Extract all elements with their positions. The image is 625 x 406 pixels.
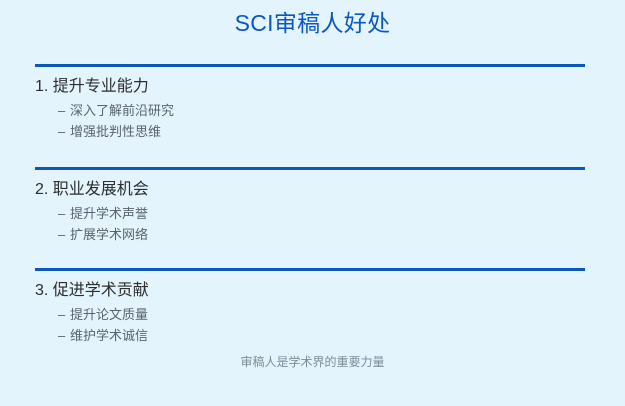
list-item-label: 提升学术声誉 xyxy=(70,206,148,221)
bullet-dash-icon: – xyxy=(58,100,70,121)
sections-container: 1. 提升专业能力 –深入了解前沿研究 –增强批判性思维 2. 职业发展机会 –… xyxy=(35,64,585,346)
section-heading-1: 1. 提升专业能力 xyxy=(35,67,585,100)
page-title: SCI审稿人好处 xyxy=(0,8,625,38)
list-item-label: 深入了解前沿研究 xyxy=(70,103,174,118)
footer-note: 审稿人是学术界的重要力量 xyxy=(0,353,625,371)
section-3: 3. 促进学术贡献 –提升论文质量 –维护学术诚信 xyxy=(35,268,585,346)
section-2-sub-list: –提升学术声誉 –扩展学术网络 xyxy=(35,203,585,245)
list-item: –深入了解前沿研究 xyxy=(35,100,585,121)
list-item: –提升论文质量 xyxy=(35,304,585,325)
section-spacer xyxy=(35,245,585,268)
section-heading-2: 2. 职业发展机会 xyxy=(35,170,585,203)
section-heading-3: 3. 促进学术贡献 xyxy=(35,271,585,304)
list-item-label: 扩展学术网络 xyxy=(70,227,148,242)
list-item-label: 增强批判性思维 xyxy=(70,124,161,139)
list-item: –维护学术诚信 xyxy=(35,325,585,346)
document-page: SCI审稿人好处 1. 提升专业能力 –深入了解前沿研究 –增强批判性思维 2.… xyxy=(0,0,625,406)
section-1-sub-list: –深入了解前沿研究 –增强批判性思维 xyxy=(35,100,585,142)
bullet-dash-icon: – xyxy=(58,121,70,142)
section-1: 1. 提升专业能力 –深入了解前沿研究 –增强批判性思维 xyxy=(35,64,585,142)
bullet-dash-icon: – xyxy=(58,224,70,245)
section-spacer xyxy=(35,142,585,167)
section-2: 2. 职业发展机会 –提升学术声誉 –扩展学术网络 xyxy=(35,167,585,245)
list-item-label: 维护学术诚信 xyxy=(70,328,148,343)
bullet-dash-icon: – xyxy=(58,203,70,224)
section-3-sub-list: –提升论文质量 –维护学术诚信 xyxy=(35,304,585,346)
list-item: –提升学术声誉 xyxy=(35,203,585,224)
list-item: –增强批判性思维 xyxy=(35,121,585,142)
bullet-dash-icon: – xyxy=(58,325,70,346)
list-item-label: 提升论文质量 xyxy=(70,307,148,322)
bullet-dash-icon: – xyxy=(58,304,70,325)
list-item: –扩展学术网络 xyxy=(35,224,585,245)
